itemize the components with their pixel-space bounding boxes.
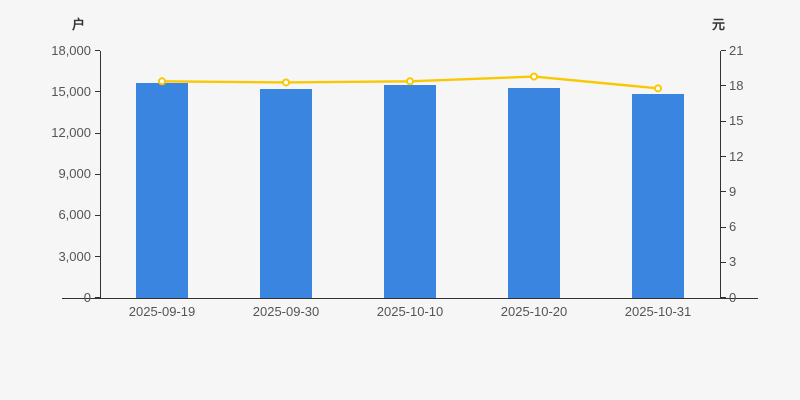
right-axis-tick-mark xyxy=(721,121,726,122)
left-axis-tick-label: 15,000 xyxy=(51,85,91,98)
line-data-point[interactable] xyxy=(531,74,537,80)
x-axis-tick-label: 2025-10-10 xyxy=(377,304,444,319)
left-axis-tick-label: 18,000 xyxy=(51,44,91,57)
line-data-point[interactable] xyxy=(283,79,289,85)
right-axis-tick-mark xyxy=(721,85,726,86)
x-axis-line xyxy=(62,298,758,299)
left-axis-tick-mark xyxy=(95,133,100,134)
right-axis-tick-mark xyxy=(721,50,726,51)
left-axis-tick-mark xyxy=(95,174,100,175)
left-axis-tick-label: 0 xyxy=(84,291,91,304)
left-axis-tick-label: 9,000 xyxy=(58,167,91,180)
bar[interactable] xyxy=(260,89,312,298)
right-axis-tick-label: 18 xyxy=(729,79,743,92)
bar[interactable] xyxy=(384,85,436,298)
left-axis-tick-mark xyxy=(95,256,100,257)
left-axis-tick-label: 3,000 xyxy=(58,250,91,263)
right-axis-tick-label: 3 xyxy=(729,255,736,268)
right-axis-tick-label: 15 xyxy=(729,114,743,127)
x-axis-tick-label: 2025-09-30 xyxy=(253,304,320,319)
right-axis-tick-label: 12 xyxy=(729,150,743,163)
x-axis-tick-label: 2025-09-19 xyxy=(129,304,196,319)
right-axis-tick-mark xyxy=(721,191,726,192)
right-axis-line xyxy=(720,51,721,298)
right-axis-tick-mark xyxy=(721,262,726,263)
line-data-point[interactable] xyxy=(655,85,661,91)
right-axis-tick-label: 6 xyxy=(729,220,736,233)
right-axis-tick-mark xyxy=(721,227,726,228)
left-axis-tick-mark xyxy=(95,297,100,298)
x-axis-tick-label: 2025-10-20 xyxy=(501,304,568,319)
right-axis-tick-label: 9 xyxy=(729,185,736,198)
right-axis-tick-label: 21 xyxy=(729,44,743,57)
bar[interactable] xyxy=(136,83,188,298)
right-axis-tick-mark xyxy=(721,156,726,157)
left-axis-line xyxy=(100,51,101,298)
line-data-point[interactable] xyxy=(407,78,413,84)
right-axis-unit-label: 元 xyxy=(712,14,725,33)
chart-canvas: 户 元 03,0006,0009,00012,00015,00018,000 0… xyxy=(0,0,800,400)
left-axis-tick-label: 12,000 xyxy=(51,126,91,139)
left-axis-tick-mark xyxy=(95,91,100,92)
left-axis-unit-label: 户 xyxy=(72,14,85,33)
left-axis-tick-label: 6,000 xyxy=(58,208,91,221)
right-axis-tick-mark xyxy=(721,297,726,298)
right-axis-tick-label: 0 xyxy=(729,291,736,304)
bar[interactable] xyxy=(508,88,560,298)
left-axis-tick-mark xyxy=(95,215,100,216)
x-axis-tick-label: 2025-10-31 xyxy=(625,304,692,319)
left-axis-tick-mark xyxy=(95,50,100,51)
bar[interactable] xyxy=(632,94,684,298)
